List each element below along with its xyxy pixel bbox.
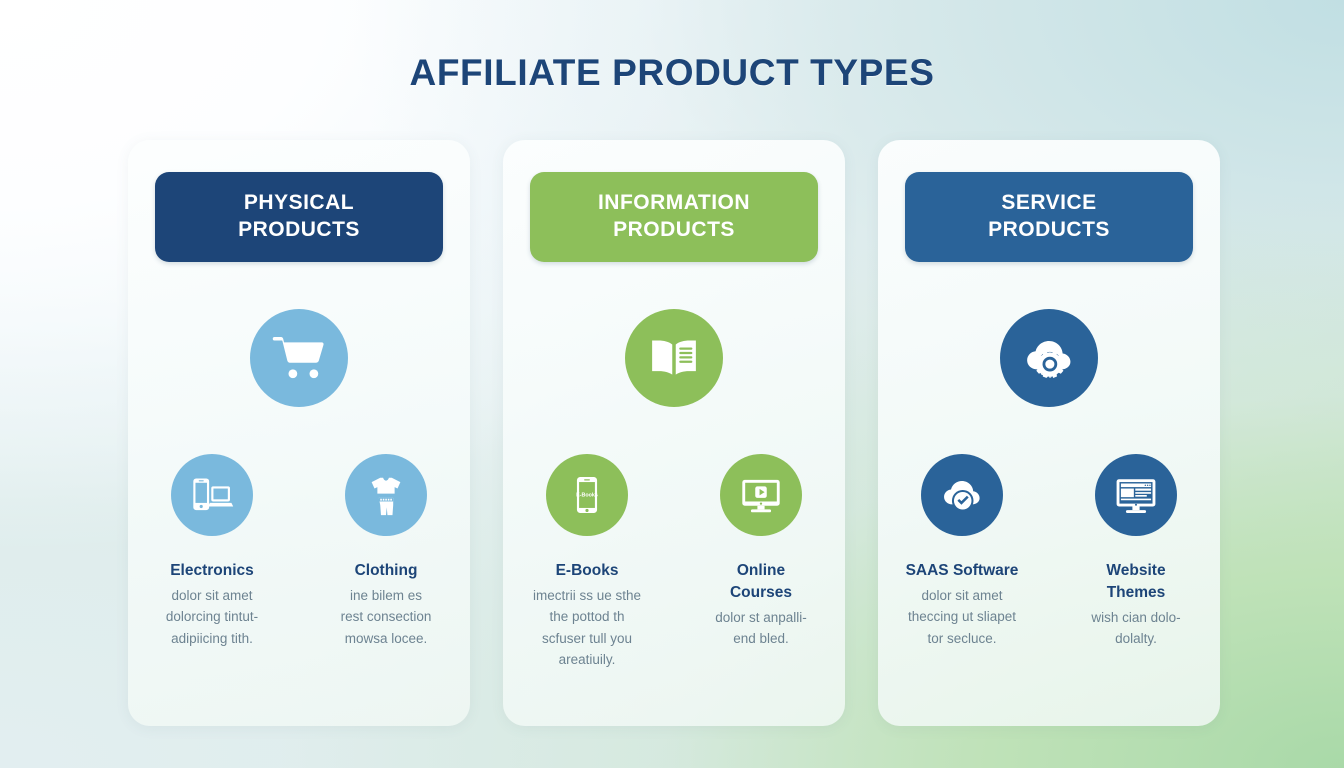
sub-item-desc: dolor sit amet dolorcing tintut- adipiic… bbox=[166, 585, 258, 649]
sub-item-title: E-Books bbox=[556, 560, 619, 582]
sub-item-title: Online Courses bbox=[730, 560, 792, 604]
sub-items-service: SAAS Software dolor sit amet theccing ut… bbox=[878, 454, 1220, 650]
sub-item-online-courses: Online Courses dolor st anpalli- end ble… bbox=[697, 454, 825, 670]
sub-item-electronics: Electronics dolor sit amet dolorcing tin… bbox=[148, 454, 276, 649]
sub-item-desc: wish cian dolo- dolalty. bbox=[1091, 607, 1180, 650]
card-physical-products: PHYSICAL PRODUCTS bbox=[128, 140, 470, 726]
sub-items-physical: Electronics dolor sit amet dolorcing tin… bbox=[128, 454, 470, 649]
card-header-information: INFORMATION PRODUCTS bbox=[530, 172, 818, 262]
sub-item-desc: imectrii ss ue sthe the pottod th scfuse… bbox=[533, 585, 641, 670]
sub-item-desc: dolor sit amet theccing ut sliapet tor s… bbox=[908, 585, 1016, 649]
cloud-check-icon bbox=[921, 454, 1003, 536]
sub-item-saas-software: SAAS Software dolor sit amet theccing ut… bbox=[898, 454, 1026, 650]
sub-item-desc: dolor st anpalli- end bled. bbox=[715, 607, 807, 650]
sub-item-ebooks: E-Books E-Books imectrii ss ue sthe the … bbox=[523, 454, 651, 670]
sub-item-clothing: Clothing ine bilem es rest consection mo… bbox=[322, 454, 450, 649]
open-book-icon bbox=[625, 309, 723, 407]
clothing-icon bbox=[345, 454, 427, 536]
card-header-physical: PHYSICAL PRODUCTS bbox=[155, 172, 443, 262]
sub-item-title: SAAS Software bbox=[906, 560, 1019, 582]
product-type-cards: PHYSICAL PRODUCTS bbox=[128, 140, 1220, 726]
ebook-phone-icon: E-Books bbox=[546, 454, 628, 536]
website-monitor-icon bbox=[1095, 454, 1177, 536]
page-title: AFFILIATE PRODUCT TYPES bbox=[0, 52, 1344, 94]
shopping-cart-icon bbox=[250, 309, 348, 407]
card-information-products: INFORMATION PRODUCTS E-B bbox=[503, 140, 845, 726]
svg-text:E-Books: E-Books bbox=[576, 492, 598, 498]
cloud-gear-icon bbox=[1000, 309, 1098, 407]
sub-item-title: Clothing bbox=[355, 560, 418, 582]
sub-item-title: Website Themes bbox=[1106, 560, 1165, 604]
sub-item-title: Electronics bbox=[170, 560, 254, 582]
phone-laptop-icon bbox=[171, 454, 253, 536]
sub-item-website-themes: Website Themes wish cian dolo- dolalty. bbox=[1072, 454, 1200, 650]
sub-item-desc: ine bilem es rest consection mowsa locee… bbox=[341, 585, 432, 649]
sub-items-information: E-Books E-Books imectrii ss ue sthe the … bbox=[503, 454, 845, 670]
card-header-service: SERVICE PRODUCTS bbox=[905, 172, 1193, 262]
card-service-products: SERVICE PRODUCTS bbox=[878, 140, 1220, 726]
video-monitor-icon bbox=[720, 454, 802, 536]
